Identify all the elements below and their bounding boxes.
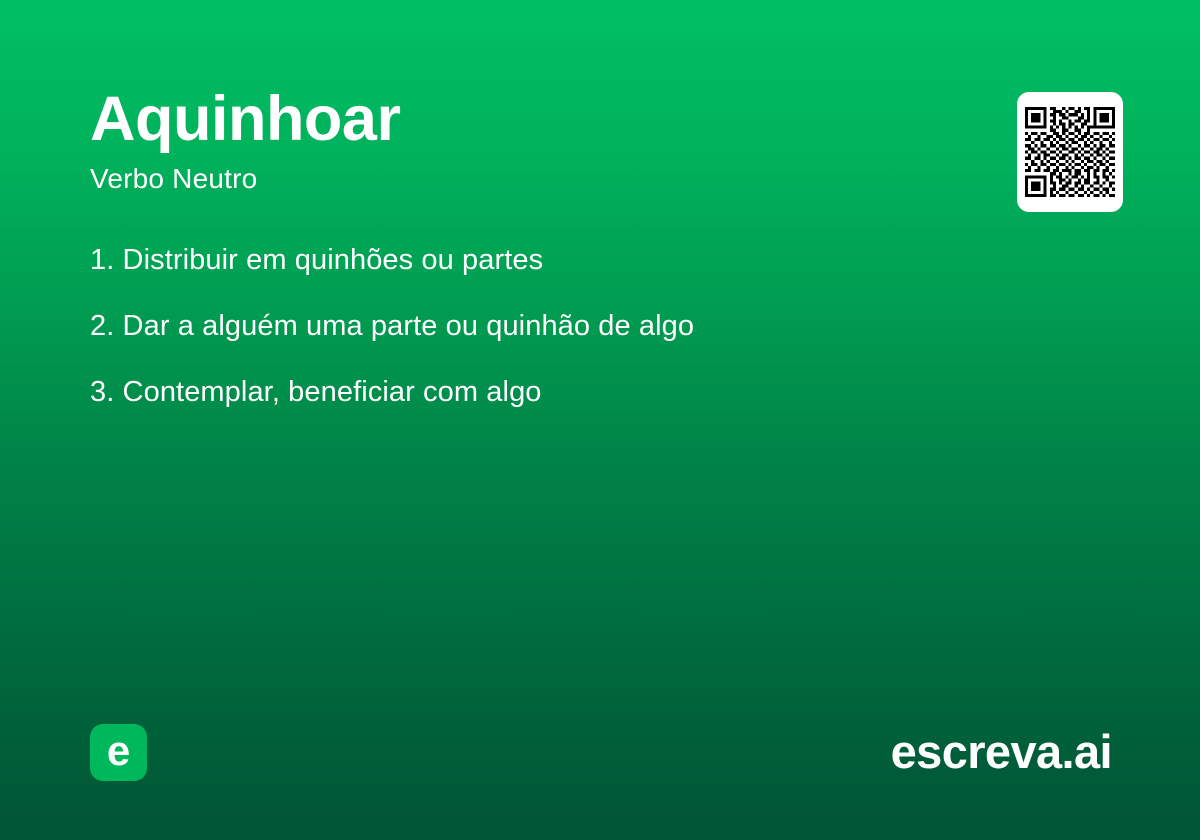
word-class-label: Verbo Neutro [90, 165, 950, 193]
word-card: Aquinhoar Verbo Neutro 1. Distribuir em … [0, 0, 1200, 840]
list-item: 1. Distribuir em quinhões ou partes [90, 246, 970, 275]
list-item: 3. Contemplar, beneficiar com algo [90, 378, 970, 407]
logo-letter: e [107, 730, 130, 772]
escreva-logo[interactable]: e [90, 724, 147, 781]
page-title: Aquinhoar [90, 88, 950, 151]
list-item: 2. Dar a alguém uma parte ou quinhão de … [90, 312, 970, 341]
brand-wordmark: escreva.ai [891, 727, 1112, 776]
qr-code-icon [1025, 107, 1115, 197]
definition-list: 1. Distribuir em quinhões ou partes 2. D… [90, 246, 970, 407]
card-header: Aquinhoar Verbo Neutro [90, 88, 950, 193]
qr-code-container[interactable] [1017, 92, 1123, 212]
